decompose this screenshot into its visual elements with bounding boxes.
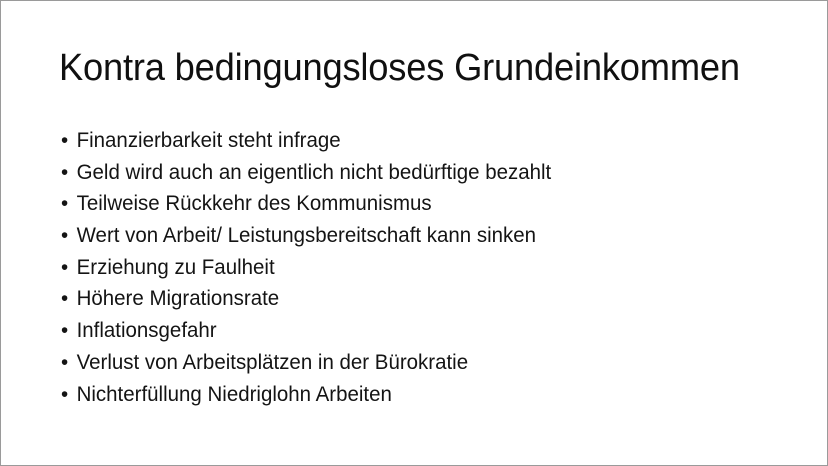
page-title: Kontra bedingungsloses Grundeinkommen <box>59 45 743 91</box>
bullet-point-icon: • <box>61 220 77 252</box>
bullet-point-icon: • <box>61 125 77 157</box>
list-item-label: Nichterfüllung Niedriglohn Arbeiten <box>77 379 392 411</box>
bullet-point-icon: • <box>61 283 77 315</box>
bullet-point-icon: • <box>61 252 77 284</box>
list-item: • Erziehung zu Faulheit <box>61 252 744 284</box>
list-item-label: Geld wird auch an eigentlich nicht bedür… <box>77 157 552 189</box>
list-item-label: Verlust von Arbeitsplätzen in der Bürokr… <box>77 347 469 379</box>
list-item: • Teilweise Rückkehr des Kommunismus <box>61 188 744 220</box>
list-item: • Wert von Arbeit/ Leistungsbereitschaft… <box>61 220 744 252</box>
list-item: • Höhere Migrationsrate <box>61 283 744 315</box>
bullet-point-icon: • <box>61 315 77 347</box>
bullet-point-icon: • <box>61 347 77 379</box>
bullet-point-icon: • <box>61 188 77 220</box>
list-item-label: Wert von Arbeit/ Leistungsbereitschaft k… <box>77 220 536 252</box>
list-item: • Verlust von Arbeitsplätzen in der Büro… <box>61 347 744 379</box>
list-item: • Finanzierbarkeit steht infrage <box>61 125 744 157</box>
list-item-label: Inflationsgefahr <box>77 315 217 347</box>
list-item-label: Erziehung zu Faulheit <box>77 252 275 284</box>
bullet-point-icon: • <box>61 157 77 189</box>
list-item-label: Finanzierbarkeit steht infrage <box>77 125 341 157</box>
bullet-point-icon: • <box>61 379 77 411</box>
presentation-slide: Kontra bedingungsloses Grundeinkommen • … <box>0 0 828 466</box>
list-item-label: Höhere Migrationsrate <box>77 283 280 315</box>
bullet-list: • Finanzierbarkeit steht infrage • Geld … <box>61 125 761 410</box>
list-item: • Inflationsgefahr <box>61 315 744 347</box>
list-item-label: Teilweise Rückkehr des Kommunismus <box>77 188 432 220</box>
list-item: • Nichterfüllung Niedriglohn Arbeiten <box>61 379 744 411</box>
list-item: • Geld wird auch an eigentlich nicht bed… <box>61 157 744 189</box>
